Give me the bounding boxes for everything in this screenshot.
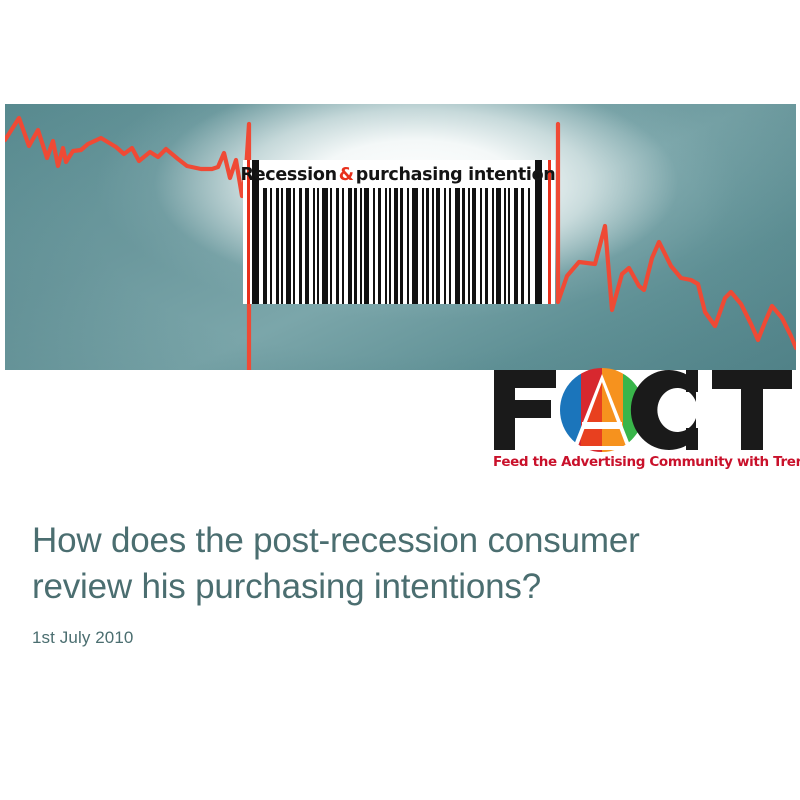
barcode-graphic: Recession & purchasing intention	[243, 160, 555, 304]
fact-tagline: Feed the Advertising Community with Tren…	[493, 454, 793, 470]
barcode-heading-prefix: Recession	[241, 165, 337, 185]
slide-date: 1st July 2010	[32, 628, 762, 648]
barcode-heading-suffix: purchasing intention	[356, 165, 556, 185]
title-block: How does the post-recession consumer rev…	[32, 518, 762, 648]
barcode-heading: Recession & purchasing intention	[265, 162, 531, 188]
chart-line-left	[5, 118, 249, 370]
hero-banner: Recession & purchasing intention	[5, 104, 796, 370]
fact-wordmark	[490, 366, 796, 454]
chart-line-right	[558, 124, 796, 348]
logo-letter-t	[712, 370, 792, 450]
barcode-heading-ampersand: &	[337, 165, 356, 185]
logo-letter-c	[631, 370, 698, 450]
fact-logo: Feed the Advertising Community with Tren…	[490, 366, 796, 478]
page-title: How does the post-recession consumer rev…	[32, 518, 762, 610]
barcode-bars	[263, 188, 533, 304]
logo-letter-f	[494, 370, 556, 450]
